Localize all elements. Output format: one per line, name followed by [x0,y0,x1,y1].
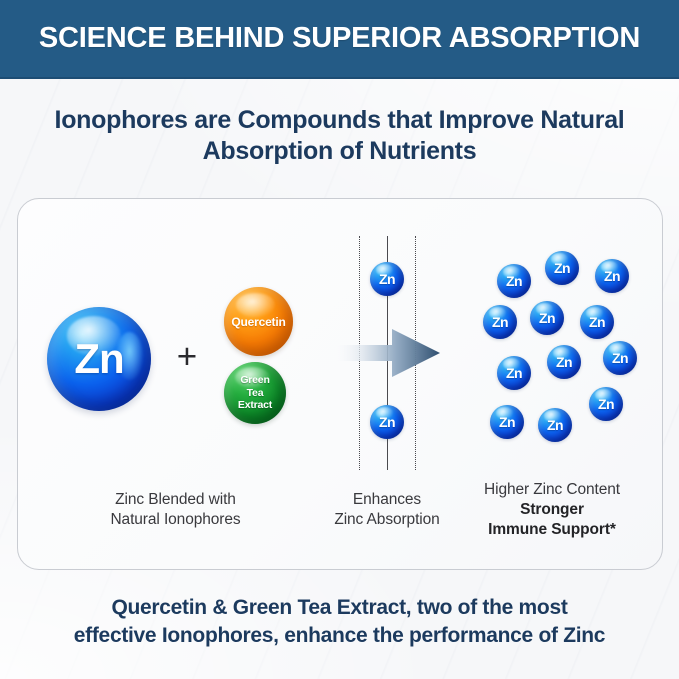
caption-left-line-2: Natural Ionophores [110,511,240,528]
zinc-sphere-cluster: Zn [595,259,629,293]
footer-line-2: effective Ionophores, enhance the perfor… [74,624,605,647]
zinc-label: Zn [547,417,563,433]
zinc-label: Zn [506,365,522,381]
caption-mid-line-2: Zinc Absorption [334,511,439,528]
zinc-sphere-label: Zn [74,335,123,383]
zinc-label: Zn [589,314,605,330]
plus-symbol: + [168,338,206,376]
zinc-label: Zn [379,414,395,430]
zinc-label: Zn [612,350,628,366]
green-tea-extract-label: Green Tea Extract [238,374,272,412]
zinc-sphere-cluster: Zn [538,408,572,442]
zinc-sphere-cluster: Zn [530,301,564,335]
zinc-sphere-large: Zn [47,307,151,411]
zinc-label: Zn [556,354,572,370]
zinc-sphere-cluster: Zn [483,305,517,339]
caption-right-line-1: Higher Zinc Content [484,481,620,498]
zinc-sphere-membrane-bottom: Zn [370,405,404,439]
subtitle-line-2: Absorption of Nutrients [203,137,477,165]
quercetin-label: Quercetin [231,315,285,329]
zinc-label: Zn [492,314,508,330]
zinc-sphere-cluster: Zn [580,305,614,339]
zinc-label: Zn [598,396,614,412]
absorption-arrow [330,326,440,380]
caption-right-line-3: Immune Support* [488,521,616,538]
caption-stage-left: Zinc Blended with Natural Ionophores [38,490,313,530]
quercetin-sphere: Quercetin [224,287,293,356]
subtitle: Ionophores are Compounds that Improve Na… [40,105,639,167]
zinc-sphere-cluster: Zn [603,341,637,375]
zinc-label: Zn [506,273,522,289]
zinc-sphere-cluster: Zn [497,356,531,390]
zinc-sphere-cluster: Zn [497,264,531,298]
zinc-label: Zn [379,271,395,287]
green-tea-line-3: Extract [238,399,272,411]
arrow-right-icon [330,326,440,380]
infographic-page: SCIENCE BEHIND SUPERIOR ABSORPTION Ionop… [0,0,679,679]
zinc-label: Zn [539,310,555,326]
caption-stage-middle: Enhances Zinc Absorption [306,490,468,530]
green-tea-line-1: Green [240,374,269,386]
caption-stage-right: Higher Zinc Content Stronger Immune Supp… [452,480,652,540]
footer-line-1: Quercetin & Green Tea Extract, two of th… [111,596,567,619]
zinc-label: Zn [604,268,620,284]
zinc-label: Zn [554,260,570,276]
zinc-sphere-cluster: Zn [490,405,524,439]
zinc-sphere-cluster: Zn [547,345,581,379]
zinc-sphere-membrane-top: Zn [370,262,404,296]
green-tea-extract-sphere: Green Tea Extract [224,362,286,424]
footer-text: Quercetin & Green Tea Extract, two of th… [26,594,653,650]
header-banner: SCIENCE BEHIND SUPERIOR ABSORPTION [0,0,679,79]
header-title: SCIENCE BEHIND SUPERIOR ABSORPTION [39,22,640,55]
caption-left-line-1: Zinc Blended with [115,491,236,508]
caption-mid-line-1: Enhances [353,491,421,508]
zinc-sphere-cluster: Zn [589,387,623,421]
subtitle-line-1: Ionophores are Compounds that Improve Na… [55,106,625,134]
zinc-sphere-cluster: Zn [545,251,579,285]
caption-right-line-2: Stronger [520,501,584,518]
green-tea-line-2: Tea [247,387,264,399]
zinc-label: Zn [499,414,515,430]
